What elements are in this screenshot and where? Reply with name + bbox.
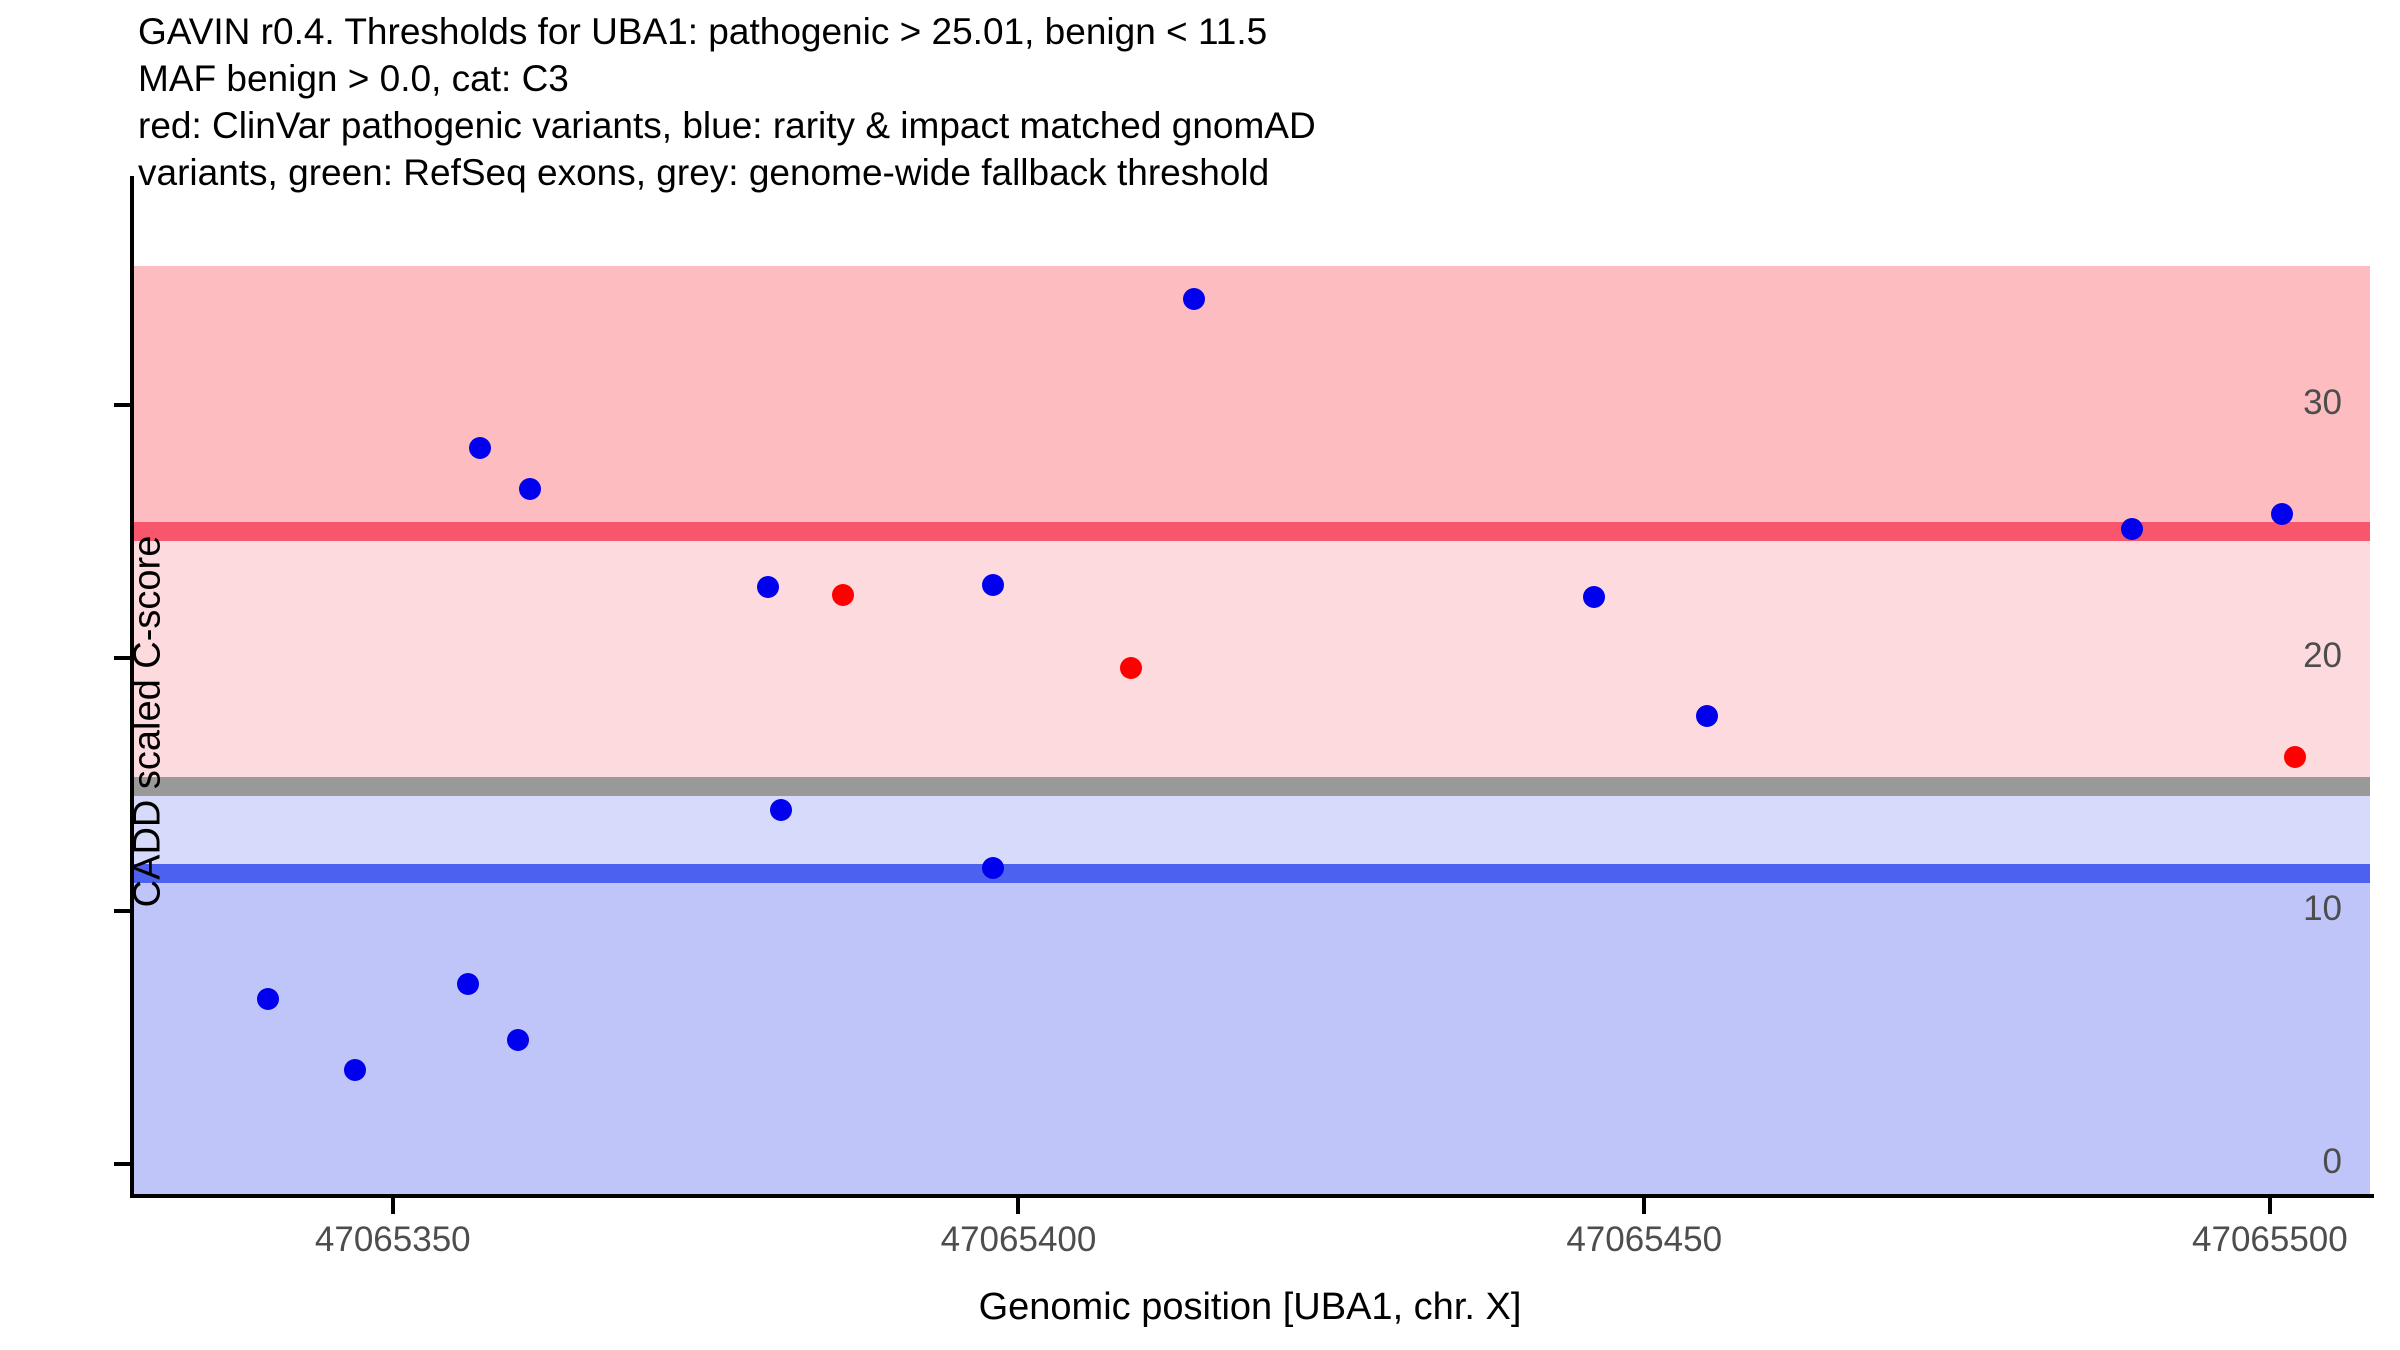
y-axis-title: CADD scaled C-score	[127, 222, 170, 1222]
data-point	[1183, 288, 1205, 310]
x-tick	[391, 1198, 395, 1214]
data-point	[982, 857, 1004, 879]
data-point	[457, 973, 479, 995]
x-tick	[1642, 1198, 1646, 1214]
data-point	[2121, 518, 2143, 540]
plot-title: GAVIN r0.4. Thresholds for UBA1: pathoge…	[138, 8, 2338, 196]
data-point	[1583, 586, 1605, 608]
x-tick	[1016, 1198, 1020, 1214]
data-point	[2284, 746, 2306, 768]
y-tick-label: 30	[2303, 383, 2342, 423]
title-line-3: red: ClinVar pathogenic variants, blue: …	[138, 102, 2338, 149]
x-tick-label: 47065350	[315, 1220, 471, 1260]
band-benign-band	[130, 873, 2370, 1194]
band-vous-band	[130, 531, 2370, 786]
data-point	[757, 576, 779, 598]
y-tick-label: 10	[2303, 889, 2342, 929]
plot-area: CADD scaled C-score Genomic position [UB…	[130, 266, 2370, 1194]
x-tick-label: 47065400	[941, 1220, 1097, 1260]
data-point	[344, 1059, 366, 1081]
data-point	[257, 988, 279, 1010]
plot-panel	[130, 266, 2370, 1194]
threshold-line-benign	[130, 864, 2370, 883]
title-line-4: variants, green: RefSeq exons, grey: gen…	[138, 149, 2338, 196]
x-axis-title: Genomic position [UBA1, chr. X]	[130, 1286, 2370, 1329]
data-point	[832, 584, 854, 606]
data-point	[469, 437, 491, 459]
y-tick	[114, 909, 130, 913]
y-tick	[114, 1162, 130, 1166]
data-point	[507, 1029, 529, 1051]
y-tick	[114, 403, 130, 407]
title-line-2: MAF benign > 0.0, cat: C3	[138, 55, 2338, 102]
band-lower-grey-band	[130, 786, 2370, 873]
x-axis-line	[130, 1194, 2374, 1198]
title-line-1: GAVIN r0.4. Thresholds for UBA1: pathoge…	[138, 8, 2338, 55]
x-tick-label: 47065450	[1566, 1220, 1722, 1260]
threshold-line-pathogenic	[130, 522, 2370, 541]
x-tick-label: 47065500	[2192, 1220, 2348, 1260]
band-upper-pathogenic-band	[130, 266, 2370, 531]
threshold-line-genome-wide-fallback	[130, 777, 2370, 796]
data-point	[519, 478, 541, 500]
x-tick	[2268, 1198, 2272, 1214]
y-tick-label: 0	[2323, 1142, 2342, 1182]
data-point	[982, 574, 1004, 596]
y-tick	[114, 656, 130, 660]
data-point	[2271, 503, 2293, 525]
data-point	[1120, 657, 1142, 679]
y-tick-label: 20	[2303, 636, 2342, 676]
data-point	[770, 799, 792, 821]
data-point	[1696, 705, 1718, 727]
